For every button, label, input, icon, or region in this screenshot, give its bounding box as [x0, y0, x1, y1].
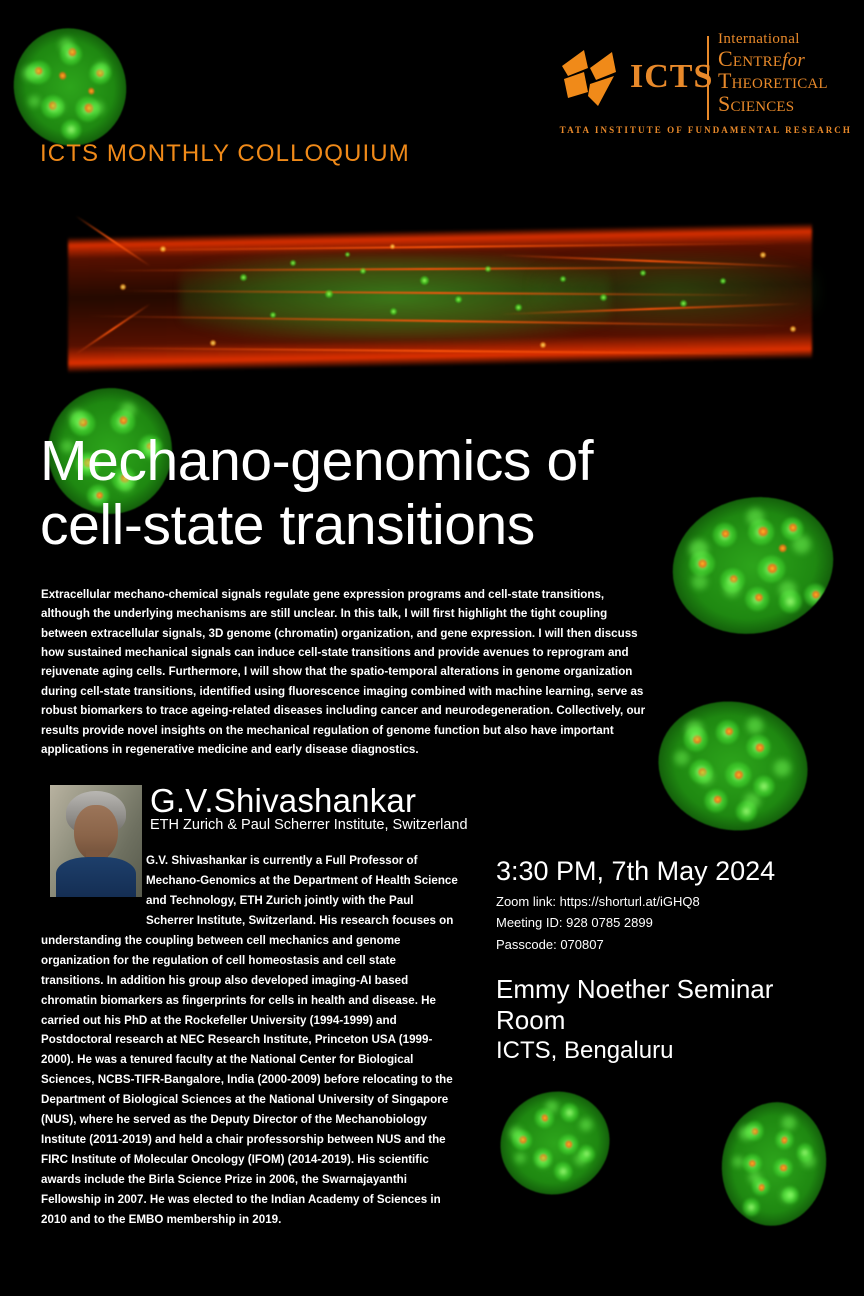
- fluorescence-micrograph-cell: [60, 216, 820, 381]
- talk-title-line-2: cell-state transitions: [40, 494, 680, 558]
- speaker-bio: G.V. Shivashankar is currently a Full Pr…: [41, 851, 459, 1230]
- speaker-affiliation: ETH Zurich & Paul Scherrer Institute, Sw…: [150, 817, 468, 833]
- logo-line-theoretical-rest: HEORETICAL: [732, 76, 828, 92]
- speaker-name: G.V.Shivashankar: [150, 782, 416, 820]
- icts-logo: ICTS International CENTREfor THEORETICAL…: [552, 32, 852, 142]
- talk-abstract: Extracellular mechano-chemical signals r…: [41, 585, 647, 759]
- logo-line-centre-c: C: [718, 46, 733, 71]
- logo-wordmark: International CENTREfor THEORETICAL SCIE…: [718, 32, 858, 116]
- event-venue-place: ICTS, Bengaluru: [496, 1037, 673, 1065]
- talk-title-line-1: Mechano-genomics of: [40, 430, 680, 494]
- logo-line-theoretical-t: T: [718, 68, 732, 93]
- logo-tagline: TATA INSTITUTE OF FUNDAMENTAL RESEARCH: [552, 125, 852, 135]
- logo-divider: [707, 36, 709, 120]
- fluorescent-cell-nucleus: [646, 688, 819, 844]
- fluorescent-cell-nucleus: [0, 14, 141, 161]
- fluorescent-cell-nucleus: [714, 1095, 834, 1232]
- event-meeting-id: Meeting ID: 928 0785 2899: [496, 915, 653, 930]
- event-zoom-link[interactable]: Zoom link: https://shorturl.at/iGHQ8: [496, 894, 700, 909]
- fluorescent-cell-nucleus: [658, 480, 848, 650]
- logo-line-international: International: [718, 31, 800, 47]
- poster-canvas: ICTS International CENTREfor THEORETICAL…: [0, 0, 864, 1296]
- event-passcode: Passcode: 070807: [496, 937, 604, 952]
- event-datetime: 3:30 PM, 7th May 2024: [496, 856, 775, 887]
- logo-line-sciences-s: S: [718, 91, 730, 116]
- icts-diamond-logo-icon: [558, 46, 624, 112]
- colloquium-label: ICTS MONTHLY COLLOQUIUM: [40, 140, 410, 168]
- bio-photo-spacer: [41, 851, 146, 923]
- fluorescent-cell-nucleus: [486, 1076, 624, 1209]
- talk-title: Mechano-genomics of cell-state transitio…: [40, 430, 680, 558]
- logo-acronym: ICTS: [630, 60, 713, 94]
- logo-line-sciences-rest: CIENCES: [730, 99, 794, 115]
- logo-line-centre-rest: ENTRE: [733, 54, 782, 70]
- event-venue-room: Emmy Noether Seminar Room: [496, 974, 836, 1035]
- logo-line-for: for: [782, 50, 805, 71]
